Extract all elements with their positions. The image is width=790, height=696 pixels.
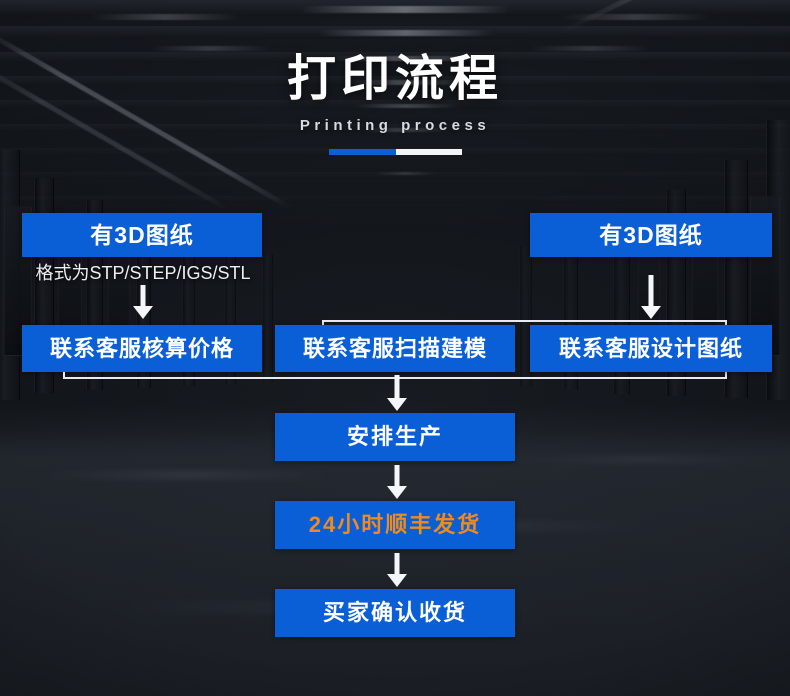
- flow-box-label: 24小时顺丰发货: [309, 514, 481, 536]
- arrow-down-icon-to-confirm: [380, 553, 414, 587]
- flow-box-contact-service-design[interactable]: 联系客服设计图纸: [530, 325, 772, 372]
- flow-box-buyer-confirm-receipt[interactable]: 买家确认收货: [275, 589, 515, 637]
- flow-box-label: 买家确认收货: [323, 602, 467, 624]
- connector-top-horizontal: [322, 320, 727, 322]
- title-underline-bars: [0, 149, 790, 155]
- flow-box-arrange-production[interactable]: 安排生产: [275, 413, 515, 461]
- flow-box-label: 联系客服扫描建模: [303, 338, 487, 360]
- flow-box-has-3d-drawing-right[interactable]: 有3D图纸: [530, 213, 772, 257]
- arrow-down-icon-to-production: [380, 375, 414, 411]
- flow-box-label: 联系客服设计图纸: [559, 338, 743, 360]
- flow-box-contact-service-scan-model[interactable]: 联系客服扫描建模: [275, 325, 515, 372]
- flow-box-has-3d-drawing-left[interactable]: 有3D图纸: [22, 213, 262, 257]
- page-subtitle: Printing process: [0, 117, 790, 134]
- flow-box-label: 安排生产: [347, 426, 443, 448]
- format-caption: 格式为STP/STEP/IGS/STL: [28, 259, 258, 285]
- arrow-down-icon-left-top: [126, 285, 160, 319]
- flow-box-24h-sf-express-shipping[interactable]: 24小时顺丰发货: [275, 501, 515, 549]
- underline-bar-blue: [329, 149, 396, 155]
- page-title: 打印流程: [0, 54, 790, 105]
- flow-box-label: 有3D图纸: [90, 224, 193, 247]
- underline-bar-white: [396, 149, 462, 155]
- flow-box-label: 联系客服核算价格: [50, 338, 234, 360]
- flow-box-contact-service-quote[interactable]: 联系客服核算价格: [22, 325, 262, 372]
- page-title-block: 打印流程 Printing process: [0, 54, 790, 155]
- arrow-down-icon-right-top: [634, 275, 668, 319]
- printing-process-infographic: 打印流程 Printing process 有3D图纸 有3D图纸 格式为STP…: [0, 0, 790, 696]
- flow-box-label: 有3D图纸: [599, 224, 702, 247]
- arrow-down-icon-to-shipping: [380, 465, 414, 499]
